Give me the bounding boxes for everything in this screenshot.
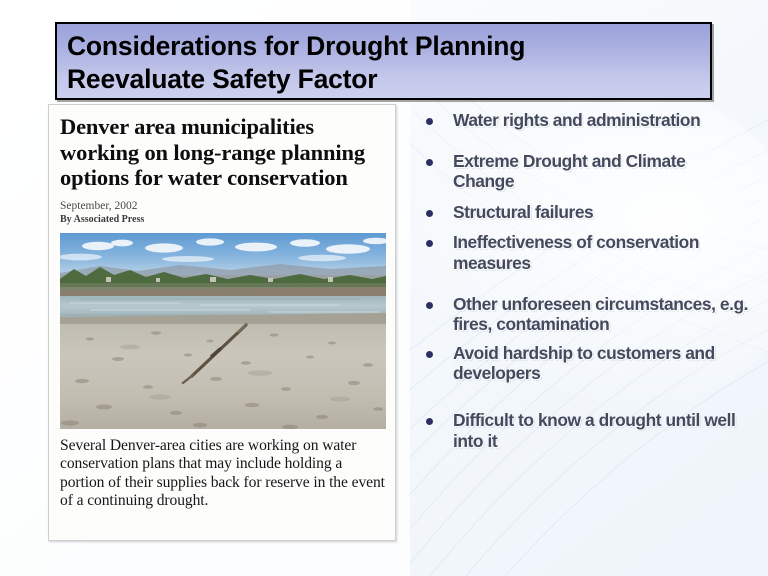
list-item: Extreme Drought and Climate Change	[420, 151, 750, 192]
list-item: Ineffectiveness of conservation measures	[420, 232, 750, 273]
bullet-dot-icon	[426, 418, 433, 425]
dry-lakebed-photo	[60, 233, 386, 429]
bullet-label: Avoid hardship to customers and develope…	[453, 343, 750, 384]
bullet-dot-icon	[426, 159, 433, 166]
bullet-dot-icon	[426, 302, 433, 309]
bullet-label: Structural failures	[453, 202, 750, 223]
bullet-dot-icon	[426, 118, 433, 125]
bullet-label: Difficult to know a drought until well i…	[453, 410, 750, 451]
list-item: Structural failures	[420, 202, 750, 223]
bullet-label: Other unforeseen circumstances, e.g. fir…	[453, 294, 750, 335]
slide-title-line-1: Considerations for Drought Planning	[67, 31, 525, 61]
bullet-dot-icon	[426, 240, 433, 247]
bullet-label: Extreme Drought and Climate Change	[453, 151, 750, 192]
list-item: Water rights and administration	[420, 110, 750, 131]
clipping-byline: By Associated Press	[60, 214, 385, 226]
slide-title-box: Considerations for Drought Planning Reev…	[55, 22, 712, 100]
list-item: Other unforeseen circumstances, e.g. fir…	[420, 294, 750, 335]
bullet-dot-icon	[426, 351, 433, 358]
clipping-headline: Denver area municipalities working on lo…	[60, 114, 385, 191]
newspaper-clipping: Denver area municipalities working on lo…	[48, 104, 396, 541]
bullet-list: Water rights and administration Extreme …	[420, 110, 750, 451]
list-item: Difficult to know a drought until well i…	[420, 410, 750, 451]
bullet-label: Ineffectiveness of conservation measures	[453, 232, 750, 273]
bullet-dot-icon	[426, 210, 433, 217]
clipping-date: September, 2002	[60, 200, 385, 213]
list-item: Avoid hardship to customers and develope…	[420, 343, 750, 384]
slide-canvas: Considerations for Drought Planning Reev…	[0, 0, 768, 576]
clipping-caption: Several Denver-area cities are working o…	[60, 437, 385, 511]
slide-title-line-2: Reevaluate Safety Factor	[67, 64, 377, 94]
bullet-label: Water rights and administration	[453, 110, 750, 131]
